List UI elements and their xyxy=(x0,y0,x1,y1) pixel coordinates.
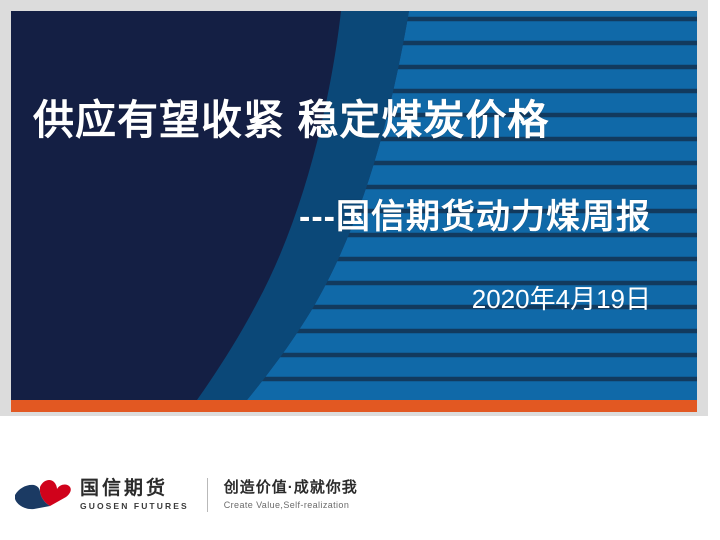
slide-footer: 国信期货 GUOSEN FUTURES 创造价值·成就你我 Create Val… xyxy=(0,470,720,526)
slide-canvas: 供应有望收紧 稳定煤炭价格 ---国信期货动力煤周报 2020年4月19日 国信… xyxy=(0,0,720,540)
hero-text-layer: 供应有望收紧 稳定煤炭价格 ---国信期货动力煤周报 2020年4月19日 xyxy=(11,11,697,400)
brand-name-en: GUOSEN FUTURES xyxy=(80,501,189,511)
page-title: 供应有望收紧 稳定煤炭价格 xyxy=(33,97,633,144)
brand-divider xyxy=(207,478,208,512)
page-date: 2020年4月19日 xyxy=(11,279,651,316)
page-subtitle: ---国信期货动力煤周报 xyxy=(11,189,651,238)
brand-slogan-en: Create Value,Self-realization xyxy=(224,500,358,511)
orange-accent-bar xyxy=(11,400,697,412)
brand-name-block: 国信期货 GUOSEN FUTURES xyxy=(80,479,189,511)
brand-slogan-block: 创造价值·成就你我 Create Value,Self-realization xyxy=(224,479,358,510)
brand-name-cn: 国信期货 xyxy=(80,479,189,499)
brand-lockup: 国信期货 GUOSEN FUTURES 创造价值·成就你我 Create Val… xyxy=(14,478,358,512)
guosen-bird-logo-icon xyxy=(14,478,72,512)
brand-slogan-cn: 创造价值·成就你我 xyxy=(224,479,358,496)
hero-panel: 供应有望收紧 稳定煤炭价格 ---国信期货动力煤周报 2020年4月19日 xyxy=(11,11,697,400)
